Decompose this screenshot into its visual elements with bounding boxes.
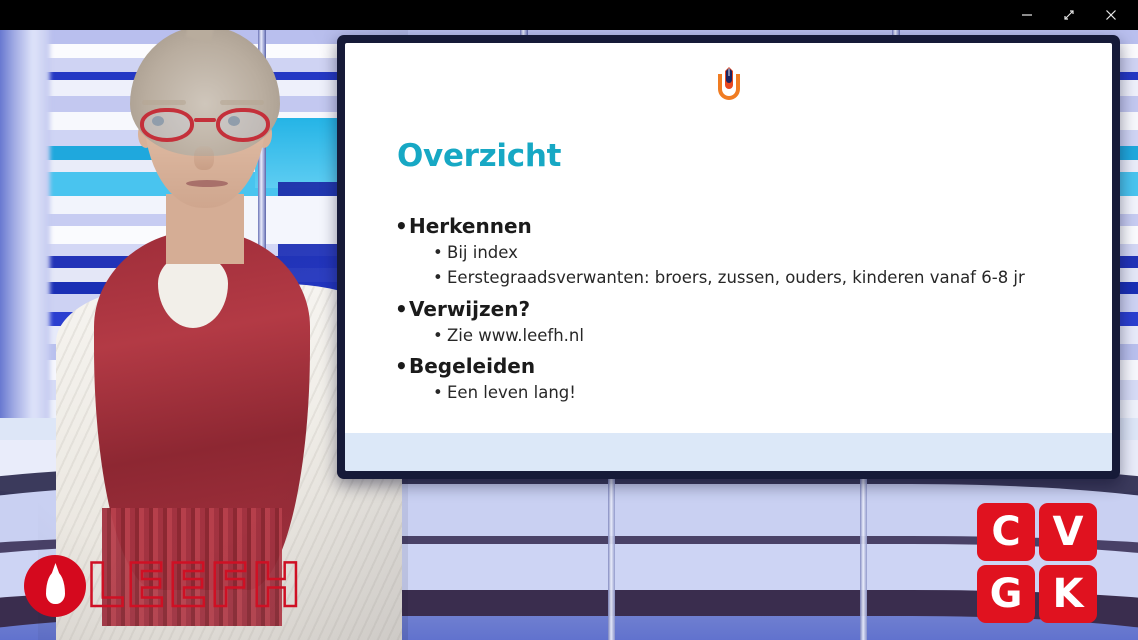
bullet-item: •Een leven lang! <box>433 380 1092 405</box>
bullet-marker: • <box>395 295 409 323</box>
bullet-item: •Begeleiden <box>395 352 1092 380</box>
bullet-marker: • <box>395 212 409 240</box>
blood-drop-icon <box>24 555 86 617</box>
bullet-item: •Bij index <box>433 240 1092 265</box>
close-button[interactable] <box>1090 0 1132 30</box>
bullet-marker: • <box>433 240 447 265</box>
window-controls <box>1006 0 1138 30</box>
slide-surface: Overzicht •Herkennen •Bij index •Eersteg… <box>345 43 1112 471</box>
bullet-item: •Zie www.leefh.nl <box>433 323 1092 348</box>
bullet-marker: • <box>433 380 447 405</box>
bullet-marker: • <box>395 352 409 380</box>
bullet-text: Bij index <box>447 243 518 262</box>
bullet-text: Verwijzen? <box>409 297 530 321</box>
bullet-marker: • <box>433 265 447 290</box>
bullet-item: •Herkennen <box>395 212 1092 240</box>
bullet-item: •Eerstegraadsverwanten: broers, zussen, … <box>433 265 1092 290</box>
app-window: Overzicht •Herkennen •Bij index •Eersteg… <box>0 0 1138 640</box>
slide-bottom-band <box>345 433 1112 471</box>
leefh-logo: LEEFH <box>24 551 294 625</box>
minimize-button[interactable] <box>1006 0 1048 30</box>
cvgk-letter-v: V <box>1039 503 1097 561</box>
bullet-text: Zie www.leefh.nl <box>447 326 584 345</box>
restore-button[interactable] <box>1048 0 1090 30</box>
bullet-text: Eerstegraadsverwanten: broers, zussen, o… <box>447 268 1025 287</box>
cvgk-letter-c: C <box>977 503 1035 561</box>
slide-title: Overzicht <box>397 138 561 174</box>
video-player-surface[interactable]: Overzicht •Herkennen •Bij index •Eersteg… <box>0 0 1138 640</box>
slide-bullet-list: •Herkennen •Bij index •Eerstegraadsverwa… <box>395 208 1092 405</box>
leefh-wordmark: LEEFH <box>86 551 302 621</box>
cvgk-letter-k: K <box>1039 565 1097 623</box>
umc-utrecht-tulip-icon <box>714 67 744 103</box>
presentation-screen: Overzicht •Herkennen •Bij index •Eersteg… <box>337 35 1120 479</box>
bullet-text: Een leven lang! <box>447 383 576 402</box>
cvgk-letter-g: G <box>977 565 1035 623</box>
bullet-text: Herkennen <box>409 214 532 238</box>
bullet-marker: • <box>433 323 447 348</box>
bullet-item: •Verwijzen? <box>395 295 1092 323</box>
title-bar <box>0 0 1138 30</box>
cvgk-logo: C V G K <box>977 503 1097 625</box>
bullet-text: Begeleiden <box>409 354 535 378</box>
